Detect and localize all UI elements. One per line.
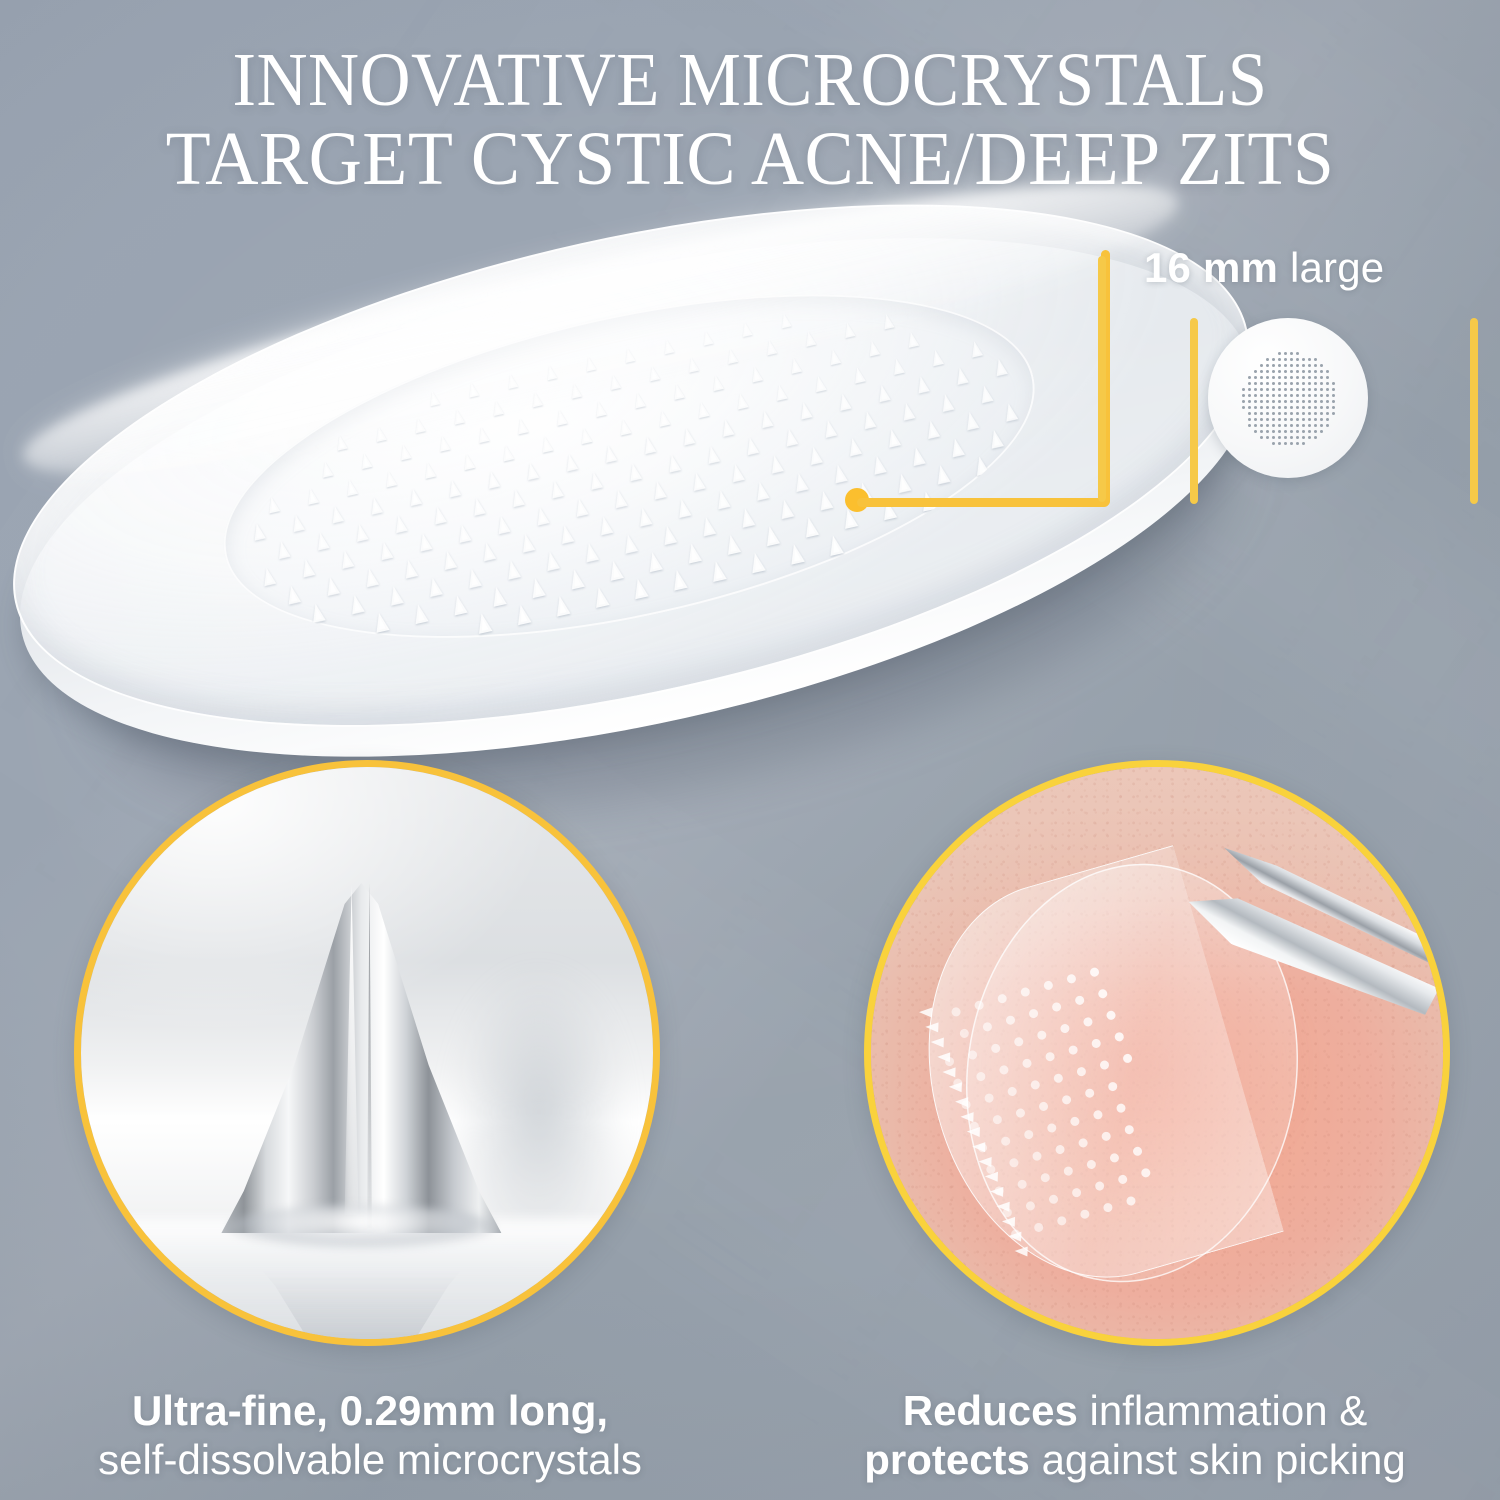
skin-background xyxy=(871,767,1443,1339)
patch-size-thumbnail xyxy=(1208,318,1368,478)
infographic-canvas: INNOVATIVE MICROCRYSTALS TARGET CYSTIC A… xyxy=(0,0,1500,1500)
cone-base-glow xyxy=(227,1205,495,1249)
size-value: 16 mm xyxy=(1144,244,1278,291)
caption-right-line-1: Reduces inflammation & xyxy=(780,1388,1490,1433)
page-title: INNOVATIVE MICROCRYSTALS TARGET CYSTIC A… xyxy=(0,44,1500,196)
silver-microcrystal-cone xyxy=(221,883,501,1233)
cone-scene-background xyxy=(81,767,653,1339)
measure-bracket-left xyxy=(1098,256,1106,502)
headline-line-2: TARGET CYSTIC ACNE/DEEP ZITS xyxy=(23,123,1478,196)
microcrystal-closeup-inset xyxy=(74,760,660,1346)
patch-on-skin-inset xyxy=(864,760,1450,1346)
caption-left-line-1: Ultra-fine, 0.29mm long, xyxy=(20,1388,720,1433)
caption-right-bold-1: Reduces xyxy=(903,1387,1078,1434)
headline-line-1: INNOVATIVE MICROCRYSTALS xyxy=(53,44,1448,117)
caption-left: Ultra-fine, 0.29mm long, self-dissolvabl… xyxy=(20,1388,720,1483)
caption-right-rest-2: against skin picking xyxy=(1030,1436,1406,1483)
caption-right-bold-2: protects xyxy=(864,1436,1030,1483)
measure-bracket-inner-left xyxy=(1190,318,1198,504)
caption-left-line-2: self-dissolvable microcrystals xyxy=(20,1437,720,1482)
thumbnail-dot-grid xyxy=(1208,318,1368,478)
caption-right-rest-1: inflammation & xyxy=(1078,1387,1367,1434)
measure-bracket-right xyxy=(1470,318,1478,504)
size-unit-label: large xyxy=(1290,244,1384,291)
caption-right-line-2: protects against skin picking xyxy=(780,1437,1490,1482)
caption-right: Reduces inflammation & protects against … xyxy=(780,1388,1490,1483)
cone-body xyxy=(221,883,501,1233)
size-callout-label: 16 mm large xyxy=(1144,244,1384,292)
size-callout: 16 mm large xyxy=(1090,236,1490,526)
